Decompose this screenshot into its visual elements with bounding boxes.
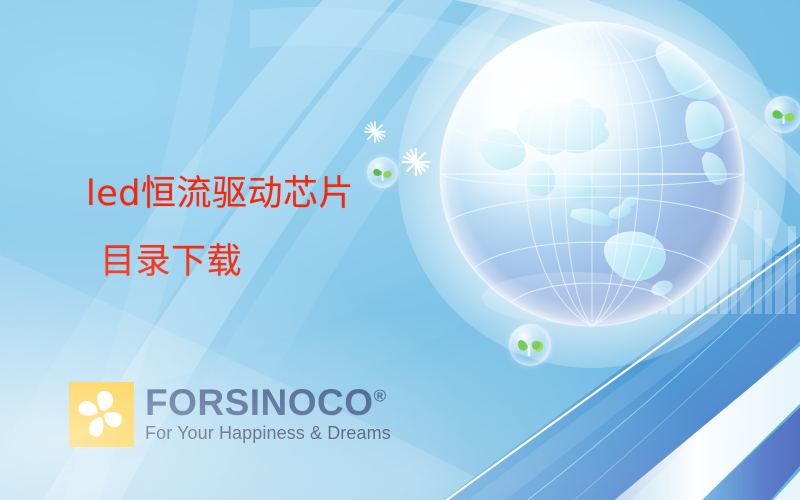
headline-line-2: 目录下载 <box>86 228 506 296</box>
registered-trademark-symbol: ® <box>374 387 387 406</box>
logo-wordmark: FORSINOCO® <box>145 384 391 422</box>
logo-text-block: FORSINOCO® For Your Happiness & Dreams <box>145 382 391 444</box>
bubble-leaf-center <box>509 324 551 366</box>
logo-wordmark-text: FORSINOCO <box>145 382 374 423</box>
white-flower-small-icon <box>364 121 386 143</box>
page-title: led恒流驱动芯片 目录下载 <box>86 160 506 296</box>
forsinoco-pinwheel-mark-icon <box>69 382 134 447</box>
bubble-leaf-top-right <box>765 96 800 133</box>
promo-banner: led恒流驱动芯片 目录下载 FORSINOCO® For Your Happi… <box>0 0 800 500</box>
headline-line-1: led恒流驱动芯片 <box>86 174 354 214</box>
logo-tagline: For Your Happiness & Dreams <box>145 423 391 444</box>
brand-logo: FORSINOCO® For Your Happiness & Dreams <box>69 382 391 447</box>
